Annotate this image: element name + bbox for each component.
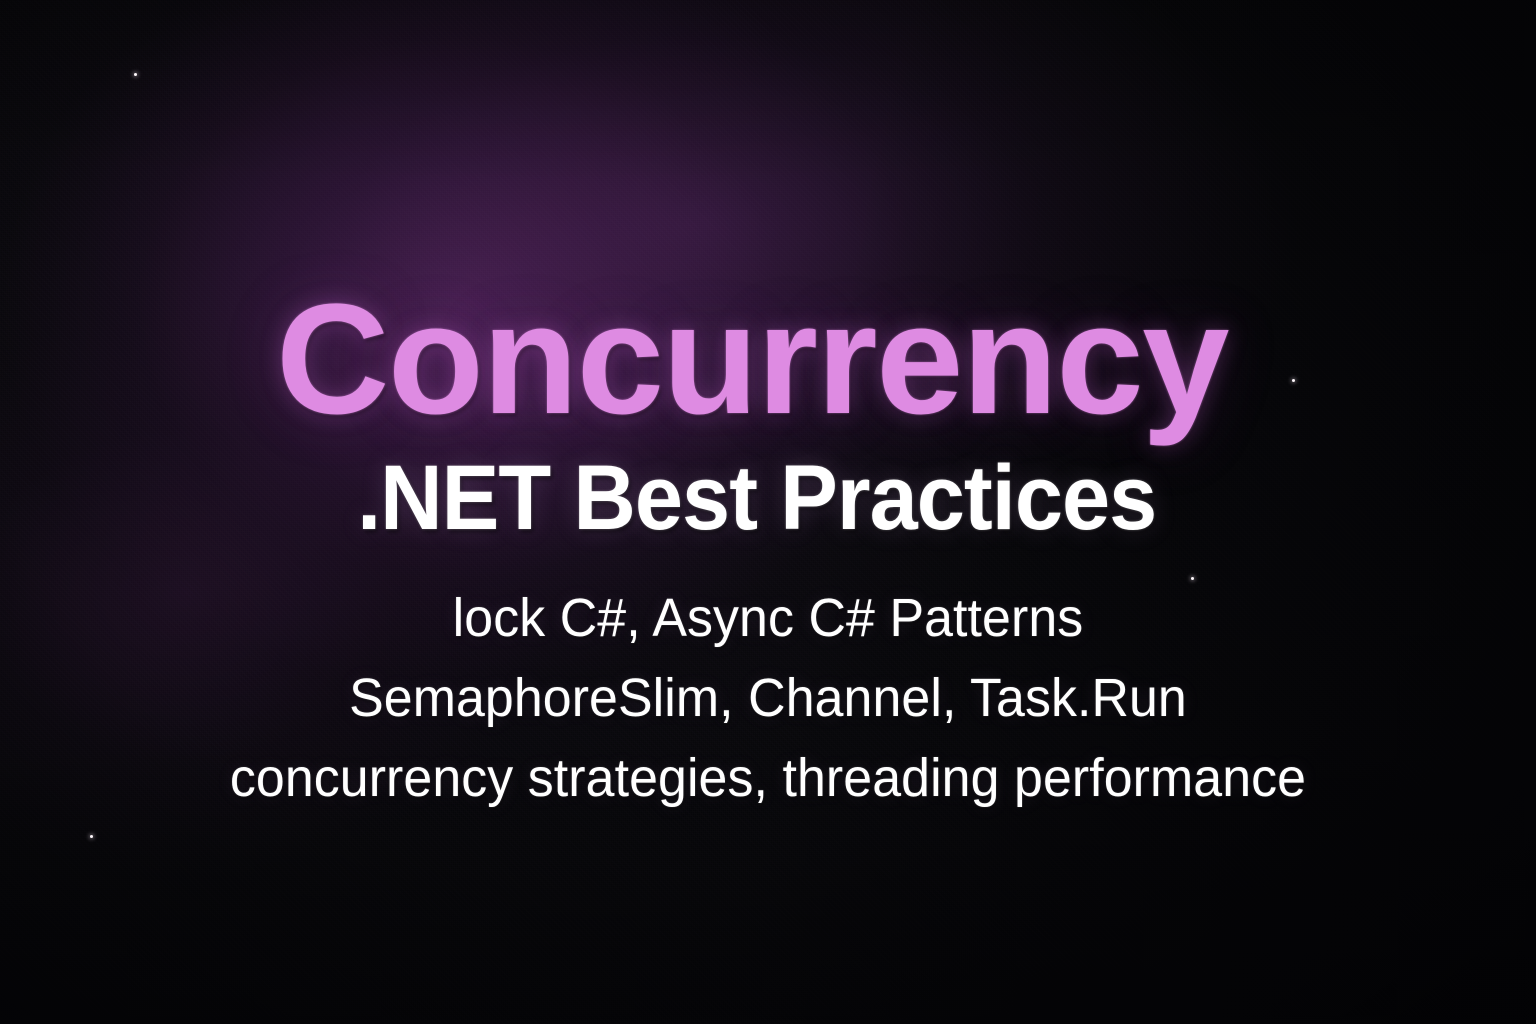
slide-title: Concurrency [0, 281, 1536, 438]
keyword-line: SemaphoreSlim, Channel, Task.Run [31, 658, 1506, 738]
keyword-line: concurrency strategies, threading perfor… [31, 738, 1506, 818]
slide-content: Concurrency .NET Best Practices lock C#,… [0, 0, 1536, 1024]
slide-keyword-list: lock C#, Async C# Patterns SemaphoreSlim… [0, 578, 1536, 818]
keyword-line: lock C#, Async C# Patterns [31, 578, 1506, 658]
presentation-slide: Concurrency .NET Best Practices lock C#,… [0, 0, 1536, 1024]
slide-subtitle: .NET Best Practices [46, 452, 1490, 544]
